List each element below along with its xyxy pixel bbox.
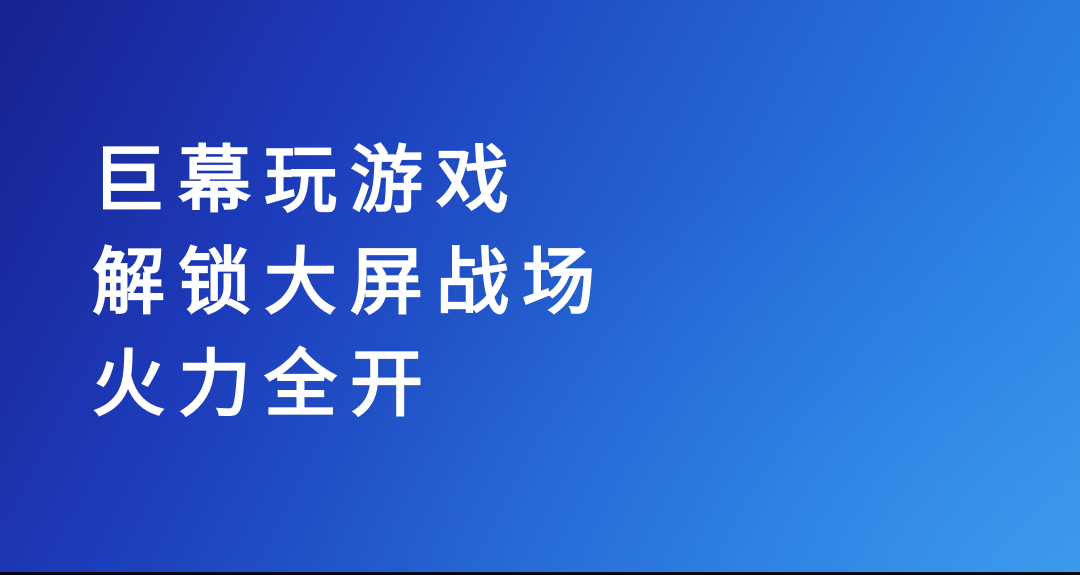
promo-banner: 巨幕玩游戏 解锁大屏战场 火力全开 [0,0,1080,575]
headline-line-1: 巨幕玩游戏 [92,130,608,232]
headline: 巨幕玩游戏 解锁大屏战场 火力全开 [92,130,608,436]
headline-line-2: 解锁大屏战场 [92,232,608,334]
headline-line-3: 火力全开 [92,334,608,436]
